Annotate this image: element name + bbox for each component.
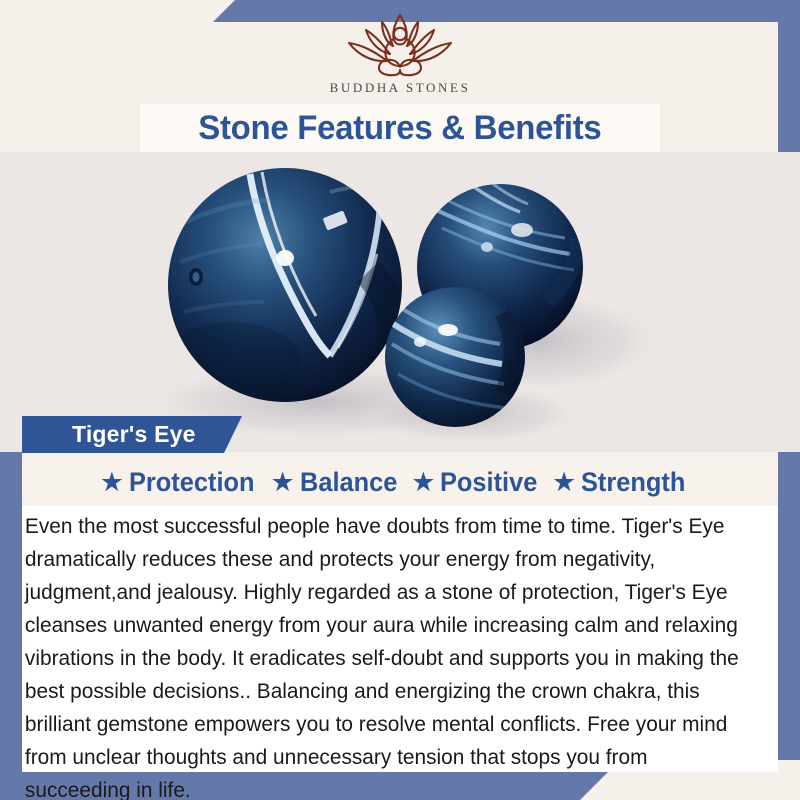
benefit-label: Strength bbox=[581, 467, 685, 498]
brand-logo: BUDDHA STONES bbox=[0, 12, 800, 96]
description-body: Even the most successful people have dou… bbox=[22, 506, 759, 800]
benefit-item-balance: ★ Balance bbox=[270, 467, 411, 498]
benefits-row: ★ Protection ★ Balance ★ Positive ★ Stre… bbox=[22, 458, 778, 506]
star-icon: ★ bbox=[411, 469, 435, 496]
lotus-meditation-icon bbox=[335, 12, 465, 78]
stone-name-banner: Tiger's Eye bbox=[22, 416, 242, 453]
benefit-item-strength: ★ Strength bbox=[552, 467, 700, 498]
poster-root: BUDDHA STONES Stone Features & Benefits bbox=[0, 0, 800, 800]
star-icon: ★ bbox=[552, 469, 576, 496]
benefit-item-positive: ★ Positive bbox=[411, 467, 552, 498]
frame-left-accent bbox=[0, 408, 22, 800]
benefit-item-protection: ★ Protection bbox=[100, 467, 271, 498]
hero-image bbox=[0, 152, 800, 452]
star-icon: ★ bbox=[270, 469, 294, 496]
star-icon: ★ bbox=[100, 469, 124, 496]
stone-name-label: Tiger's Eye bbox=[22, 421, 196, 448]
benefit-label: Protection bbox=[129, 467, 255, 498]
gemstone-spheres-illustration bbox=[0, 152, 800, 452]
benefit-label: Balance bbox=[300, 467, 397, 498]
page-title: Stone Features & Benefits bbox=[198, 109, 601, 148]
description-panel: Even the most successful people have dou… bbox=[22, 506, 778, 772]
benefit-label: Positive bbox=[440, 467, 537, 498]
brand-wordmark: BUDDHA STONES bbox=[0, 80, 800, 96]
title-band: Stone Features & Benefits bbox=[140, 104, 660, 152]
